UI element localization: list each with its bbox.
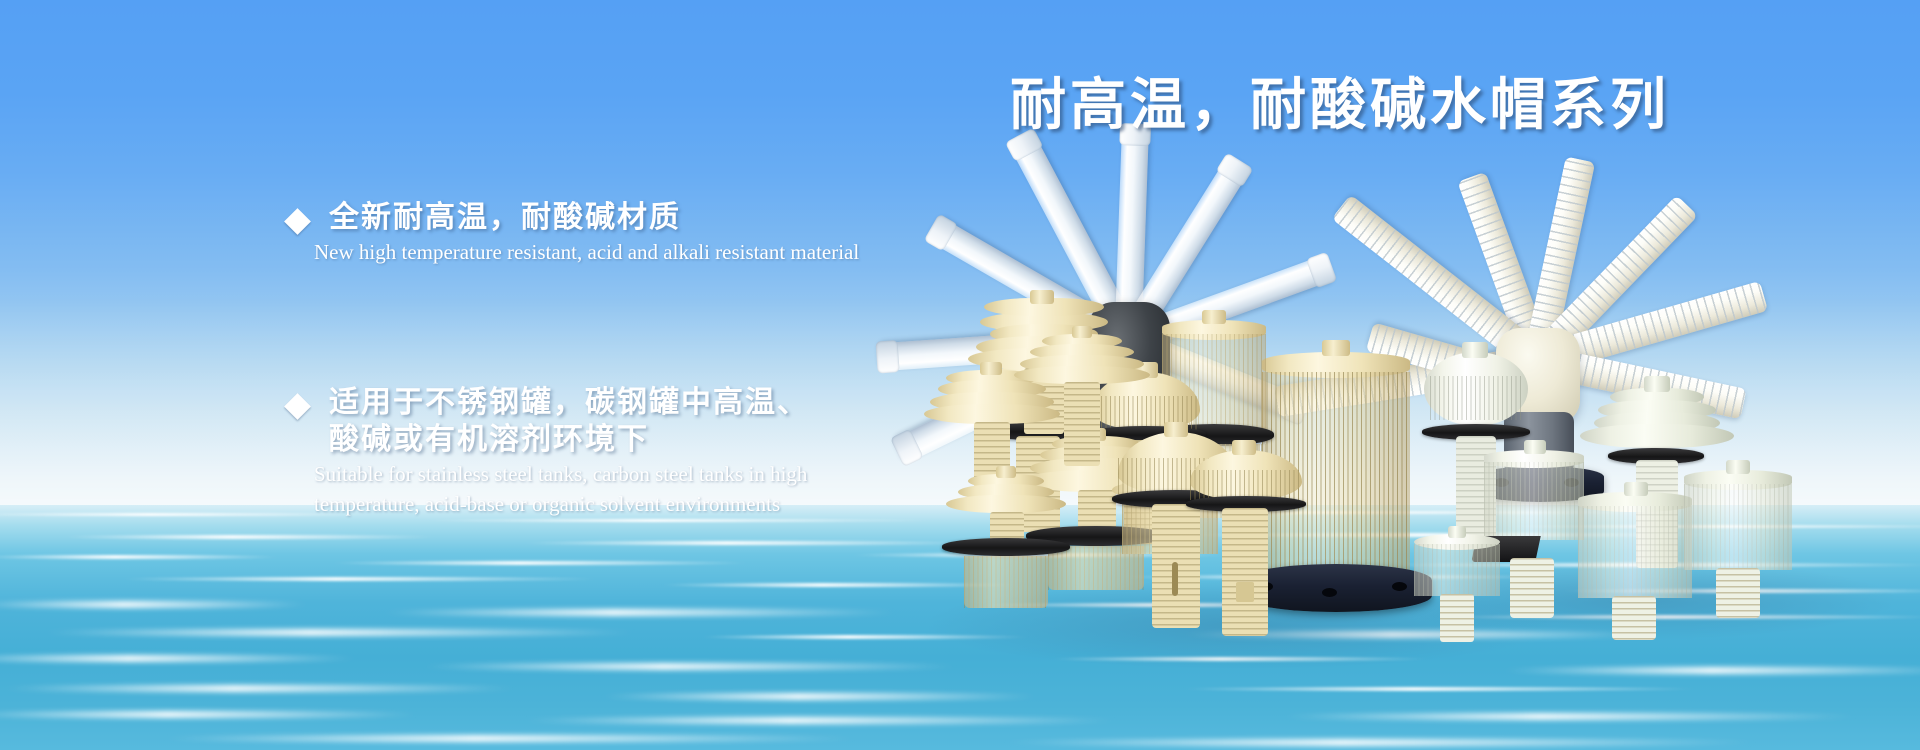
bullet-2-en-line-1: Suitable for stainless steel tanks, carb… — [314, 461, 809, 487]
water-background — [0, 505, 1920, 750]
bullet-1-en-line-1: New high temperature resistant, acid and… — [314, 239, 859, 265]
product-banner: 耐高温，耐酸碱水帽系列 全新耐高温，耐酸碱材质 New high tempera… — [0, 0, 1920, 750]
feature-bullet-2: 适用于不锈钢罐，碳钢罐中高温、 酸碱或有机溶剂环境下 Suitable for … — [288, 385, 809, 517]
diamond-marker-icon — [284, 208, 311, 235]
feature-bullet-1: 全新耐高温，耐酸碱材质 New high temperature resista… — [288, 200, 859, 265]
diamond-marker-icon — [284, 393, 311, 420]
bullet-2-cn-line-1: 适用于不锈钢罐，碳钢罐中高温、 — [329, 385, 809, 422]
bullet-2-cn-line-2: 酸碱或有机溶剂环境下 — [329, 422, 809, 459]
water-ripples — [0, 505, 1920, 750]
page-title: 耐高温，耐酸碱水帽系列 — [1010, 60, 1670, 141]
bullet-1-cn-line-1: 全新耐高温，耐酸碱材质 — [329, 200, 859, 237]
bullet-2-en-line-2: temperature, acid-base or organic solven… — [314, 491, 809, 517]
